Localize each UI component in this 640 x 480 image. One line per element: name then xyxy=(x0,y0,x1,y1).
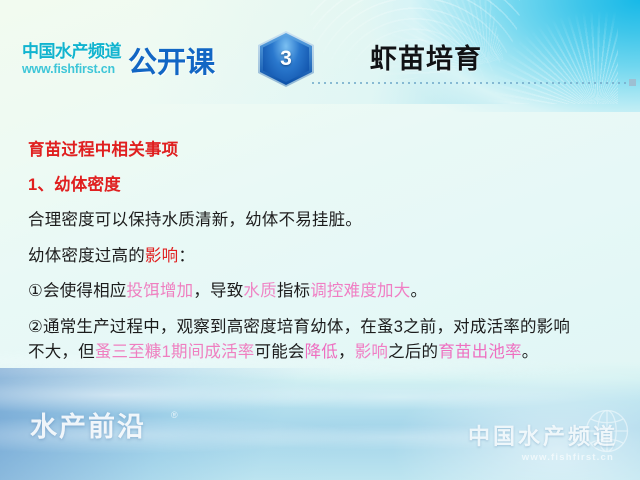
item2-seg-1: 不大，但 xyxy=(28,343,95,361)
watermark-right-url: www.fishfirst.cn xyxy=(522,453,614,463)
item2-seg-3: 可能会 xyxy=(255,343,305,361)
slide-header: 中国水产频道 www.fishfirst.cn 公开课 3 虾苗培育 xyxy=(0,0,640,104)
channel-logo-brand: 中国水产频道 xyxy=(22,43,121,60)
body-item-two-line-one: ②通常生产过程中，观察到高密度培育幼体，在蚤3之前，对成活率的影响 xyxy=(28,319,612,336)
item1-seg-control-difficulty: 调控难度加大 xyxy=(310,282,410,300)
item1-seg-water-quality: 水质 xyxy=(243,282,276,300)
slide-canvas: 中国水产频道 www.fishfirst.cn 公开课 3 虾苗培育 育苗过程中… xyxy=(0,0,640,480)
watermark-left-registered-mark: ® xyxy=(171,410,178,420)
body-line-density: 合理密度可以保持水质清新，幼体不易挂脏。 xyxy=(28,212,612,229)
item2-seg-survival-period: 蚤三至糠1期间成活率 xyxy=(95,343,255,361)
watermark-right-text: 中国水产频道 www.fishfirst.cn xyxy=(468,426,618,463)
body-line-effect: 幼体密度过高的影响： xyxy=(28,248,612,265)
watermark-right: 中国水产频道 www.fishfirst.cn xyxy=(468,426,618,463)
channel-logo-url: www.fishfirst.cn xyxy=(22,63,121,76)
item1-seg-3: ，导致 xyxy=(193,282,243,300)
effect-text-highlight: 影响 xyxy=(145,247,178,265)
item1-seg-feed: 投饵增加 xyxy=(127,282,194,300)
item1-seg-5: 指标 xyxy=(277,282,310,300)
body-heading: 育苗过程中相关事项 xyxy=(28,142,612,159)
step-number-label: 3 xyxy=(258,31,314,87)
item2-seg-output-rate: 育苗出池率 xyxy=(438,343,522,361)
item2-seg-影响: 影响 xyxy=(355,343,388,361)
item1-seg-7: 。 xyxy=(410,282,427,300)
slide-body: 育苗过程中相关事项 1、幼体密度 合理密度可以保持水质清新，幼体不易挂脏。 幼体… xyxy=(0,112,640,400)
body-item-one: ①会使得相应投饵增加，导致水质指标调控难度加大。 xyxy=(28,283,612,300)
step-number-hexagon: 3 xyxy=(258,31,314,87)
item2-seg-5: ， xyxy=(338,343,355,361)
body-section-title: 1、幼体密度 xyxy=(28,177,612,194)
item2-seg-decrease: 降低 xyxy=(305,343,338,361)
effect-text-post: ： xyxy=(178,247,195,265)
channel-logo-text: 中国水产频道 www.fishfirst.cn xyxy=(22,43,121,76)
body-item-two-line-two: 不大，但蚤三至糠1期间成活率可能会降低，影响之后的育苗出池率。 xyxy=(28,344,612,361)
item2-seg-7: 之后的 xyxy=(388,343,438,361)
channel-logo: 中国水产频道 www.fishfirst.cn 公开课 xyxy=(22,43,215,76)
page-title: 虾苗培育 xyxy=(370,37,482,76)
watermark-right-brand: 中国水产频道 xyxy=(468,426,618,448)
item2-seg-9: 。 xyxy=(522,343,539,361)
header-divider-endcap xyxy=(629,79,636,86)
item1-seg-1: ①会使得相应 xyxy=(28,282,127,300)
channel-logo-course-label: 公开课 xyxy=(128,49,215,78)
header-dotted-divider xyxy=(312,82,632,84)
effect-text-pre: 幼体密度过高的 xyxy=(28,247,145,265)
watermark-left: 水产前沿 xyxy=(30,405,146,444)
